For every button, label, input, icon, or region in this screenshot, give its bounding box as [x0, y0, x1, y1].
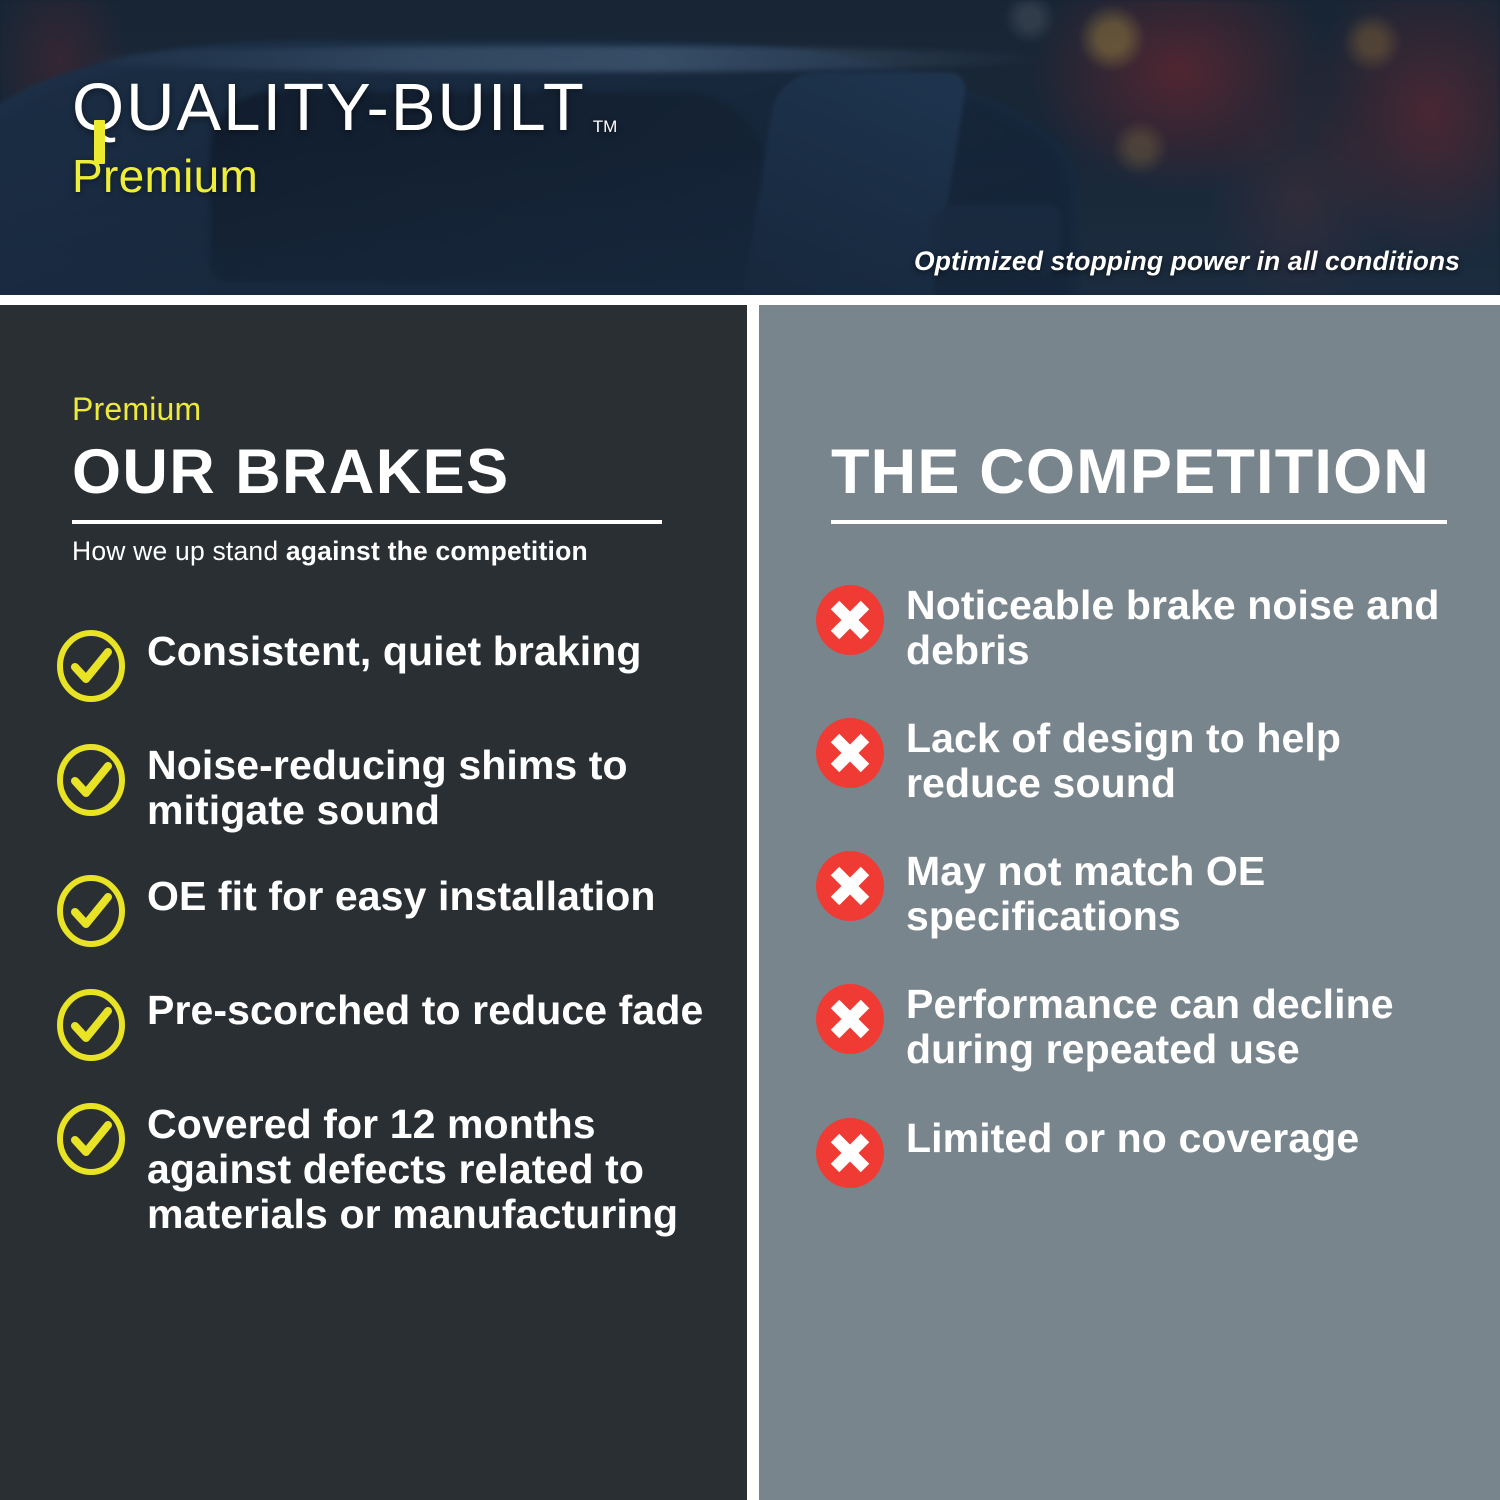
our-brakes-panel: Premium OUR BRAKES How we up stand again… [0, 305, 747, 1500]
x-circle-icon [814, 850, 886, 922]
list-item: OE fit for easy installation [55, 871, 727, 947]
list-item: Performance can decline during repeated … [814, 979, 1486, 1072]
our-brakes-list: Consistent, quiet brakingNoise-reducing … [0, 626, 747, 1237]
list-item-label: Noticeable brake noise and debris [906, 580, 1486, 673]
our-brakes-divider-rule [72, 520, 662, 524]
panel-divider [747, 305, 759, 1500]
list-item-label: Covered for 12 months against defects re… [147, 1099, 727, 1237]
x-circle-icon [814, 1117, 886, 1189]
list-item-label: Consistent, quiet braking [147, 626, 642, 674]
list-item-label: May not match OE specifications [906, 846, 1486, 939]
check-circle-icon [55, 630, 127, 702]
competition-list: Noticeable brake noise and debrisLack of… [759, 580, 1500, 1189]
list-item: Limited or no coverage [814, 1113, 1486, 1189]
competition-divider-rule [831, 520, 1447, 524]
check-circle-icon [55, 744, 127, 816]
our-brakes-heading: OUR BRAKES [72, 439, 747, 506]
list-item: May not match OE specifications [814, 846, 1486, 939]
our-brakes-subheading: How we up stand against the competition [72, 537, 747, 566]
our-brakes-header: Premium OUR BRAKES How we up stand again… [0, 305, 747, 566]
check-circle-icon [55, 875, 127, 947]
list-item-label: Noise-reducing shims to mitigate sound [147, 740, 727, 833]
list-item-label: Limited or no coverage [906, 1113, 1359, 1161]
competition-heading: THE COMPETITION [831, 439, 1500, 506]
list-item: Noise-reducing shims to mitigate sound [55, 740, 727, 833]
brand-logo-secondary-text: Premium [72, 153, 617, 199]
list-item: Lack of design to help reduce sound [814, 713, 1486, 806]
subheading-normal-part: How we up stand [72, 536, 286, 566]
brand-logo-wordmark: QUALITY-BUILT TM [72, 74, 617, 141]
subheading-bold-part: against the competition [286, 536, 588, 566]
list-item-label: Performance can decline during repeated … [906, 979, 1486, 1072]
list-item-label: Pre-scorched to reduce fade [147, 985, 703, 1033]
x-circle-icon [814, 717, 886, 789]
check-circle-icon [55, 1103, 127, 1175]
comparison-panels: Premium OUR BRAKES How we up stand again… [0, 305, 1500, 1500]
list-item: Covered for 12 months against defects re… [55, 1099, 727, 1237]
competition-panel: THE COMPETITION Noticeable brake noise a… [759, 305, 1500, 1500]
list-item-label: OE fit for easy installation [147, 871, 656, 919]
trademark-symbol: TM [593, 118, 618, 141]
list-item-label: Lack of design to help reduce sound [906, 713, 1486, 806]
logo-q-tail-accent [94, 120, 105, 164]
x-circle-icon [814, 983, 886, 1055]
hero-banner: QUALITY-BUILT TM Premium Optimized stopp… [0, 0, 1500, 295]
brand-logo: QUALITY-BUILT TM Premium [72, 74, 617, 199]
list-item: Noticeable brake noise and debris [814, 580, 1486, 673]
comparison-infographic: QUALITY-BUILT TM Premium Optimized stopp… [0, 0, 1500, 1500]
list-item: Consistent, quiet braking [55, 626, 727, 702]
x-circle-icon [814, 584, 886, 656]
our-brakes-kicker: Premium [72, 393, 747, 425]
brand-logo-primary-text: QUALITY-BUILT [72, 74, 586, 141]
list-item: Pre-scorched to reduce fade [55, 985, 727, 1061]
check-circle-icon [55, 989, 127, 1061]
competition-header: THE COMPETITION [759, 305, 1500, 524]
hero-tagline: Optimized stopping power in all conditio… [914, 246, 1460, 277]
